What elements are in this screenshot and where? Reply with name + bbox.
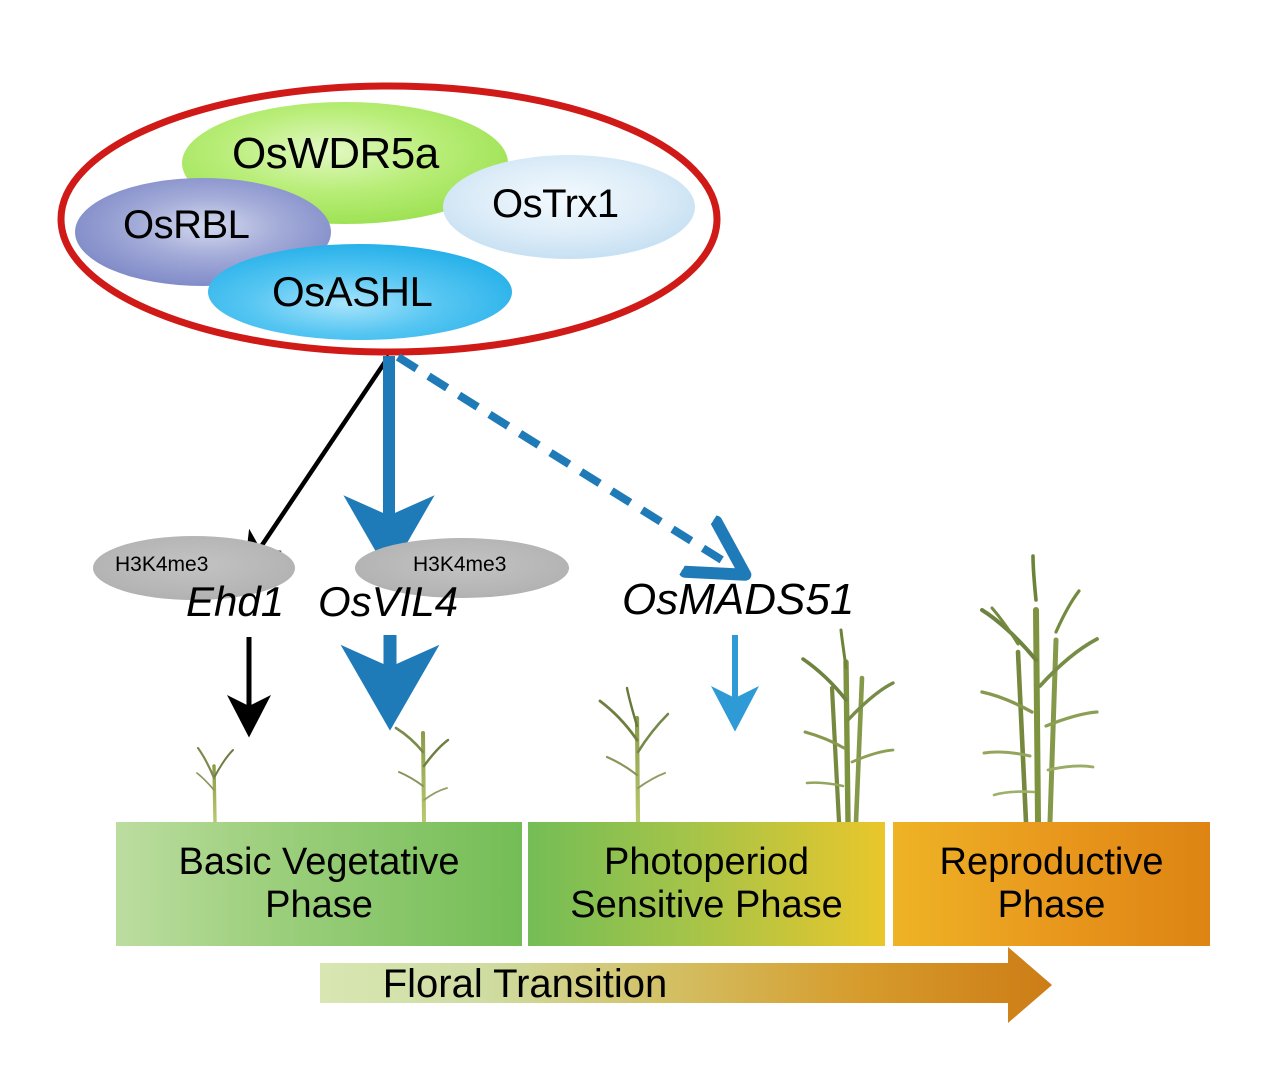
gene-label-osmads51: OsMADS51 bbox=[622, 575, 854, 625]
phase-line: Basic Vegetative bbox=[179, 841, 460, 884]
plant-tillering bbox=[600, 688, 668, 822]
gene-label-ehd1: Ehd1 bbox=[186, 578, 284, 626]
phase-line: Sensitive Phase bbox=[570, 884, 843, 927]
phase-line: Phase bbox=[179, 884, 460, 927]
gene-label-osvil4: OsVIL4 bbox=[318, 578, 458, 626]
arrow-complex-to-ehd1 bbox=[248, 356, 389, 566]
histone-label-osvil4: H3K4me3 bbox=[413, 553, 506, 577]
arrow-complex-to-osmads51 bbox=[398, 357, 725, 562]
protein-label-oswdr5a: OsWDR5a bbox=[232, 129, 439, 179]
plant-heading bbox=[982, 556, 1097, 822]
phase-line: Photoperiod bbox=[570, 841, 843, 884]
plant-elongating bbox=[803, 630, 893, 822]
protein-label-osrbl: OsRBL bbox=[123, 203, 249, 248]
plant-seedling-medium bbox=[396, 728, 448, 822]
floral-transition-arrow bbox=[320, 947, 1052, 1023]
protein-label-osashl: OsASHL bbox=[272, 268, 432, 316]
phase-box-reproductive: Reproductive Phase bbox=[893, 822, 1210, 946]
histone-label-ehd1: H3K4me3 bbox=[115, 553, 208, 577]
phase-line: Reproductive bbox=[940, 841, 1164, 884]
gene-to-phase-arrow-group bbox=[249, 635, 735, 730]
regulatory-arrow-group bbox=[248, 356, 725, 566]
phase-box-basic-vegetative: Basic Vegetative Phase bbox=[116, 822, 522, 946]
protein-label-ostrx1: OsTrx1 bbox=[492, 182, 619, 227]
diagram-canvas: OsWDR5a OsRBL OsTrx1 OsASHL H3K4me3 H3K4… bbox=[0, 0, 1269, 1079]
phase-box-photoperiod-sensitive: Photoperiod Sensitive Phase bbox=[528, 822, 885, 946]
plant-seedling-small bbox=[197, 748, 233, 822]
phase-line: Phase bbox=[940, 884, 1164, 927]
